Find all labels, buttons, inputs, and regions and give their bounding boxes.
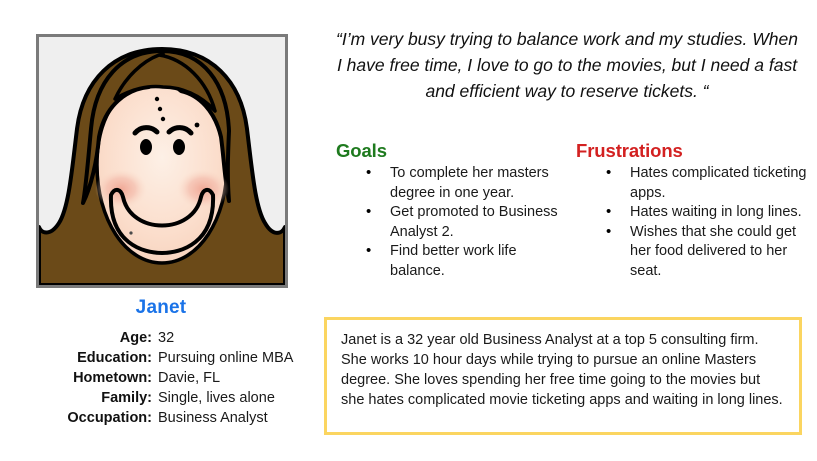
goals-section: Goals To complete her masters degree in …	[330, 140, 570, 281]
persona-bio-text: Janet is a 32 year old Business Analyst …	[327, 320, 799, 418]
list-item: Find better work life balance.	[366, 242, 570, 281]
attribute-label-education: Education:	[0, 349, 152, 368]
attribute-label-age: Age:	[0, 329, 152, 348]
attribute-label-family: Family:	[0, 389, 152, 408]
frustrations-heading: Frustrations	[576, 140, 810, 162]
list-item: Wishes that she could get her food deliv…	[606, 223, 810, 282]
persona-sections: Goals To complete her masters degree in …	[330, 140, 810, 281]
goals-heading: Goals	[336, 140, 570, 162]
attribute-value-occupation: Business Analyst	[158, 409, 312, 428]
persona-left-column: Janet Age: 32 Education: Pursuing online…	[0, 0, 322, 461]
persona-bio-box: Janet is a 32 year old Business Analyst …	[324, 317, 802, 435]
persona-quote: “I’m very busy trying to balance work an…	[332, 26, 802, 104]
persona-attribute-list: Age: 32 Education: Pursuing online MBA H…	[0, 329, 312, 428]
list-item: Get promoted to Business Analyst 2.	[366, 203, 570, 242]
attribute-label-hometown: Hometown:	[0, 369, 152, 388]
attribute-label-occupation: Occupation:	[0, 409, 152, 428]
attribute-value-education: Pursuing online MBA	[158, 349, 312, 368]
attribute-value-age: 32	[158, 329, 312, 348]
list-item: To complete her masters degree in one ye…	[366, 164, 570, 203]
avatar-frame	[36, 34, 288, 288]
goals-list: To complete her masters degree in one ye…	[330, 164, 570, 281]
list-item: Hates waiting in long lines.	[606, 203, 810, 223]
persona-name: Janet	[0, 297, 322, 319]
persona-right-column: “I’m very busy trying to balance work an…	[322, 0, 817, 461]
frustrations-list: Hates complicated ticketing apps. Hates …	[570, 164, 810, 281]
persona-portrait-illustration-icon	[39, 37, 285, 285]
list-item: Hates complicated ticketing apps.	[606, 164, 810, 203]
attribute-value-hometown: Davie, FL	[158, 369, 312, 388]
attribute-value-family: Single, lives alone	[158, 389, 312, 408]
frustrations-section: Frustrations Hates complicated ticketing…	[570, 140, 810, 281]
